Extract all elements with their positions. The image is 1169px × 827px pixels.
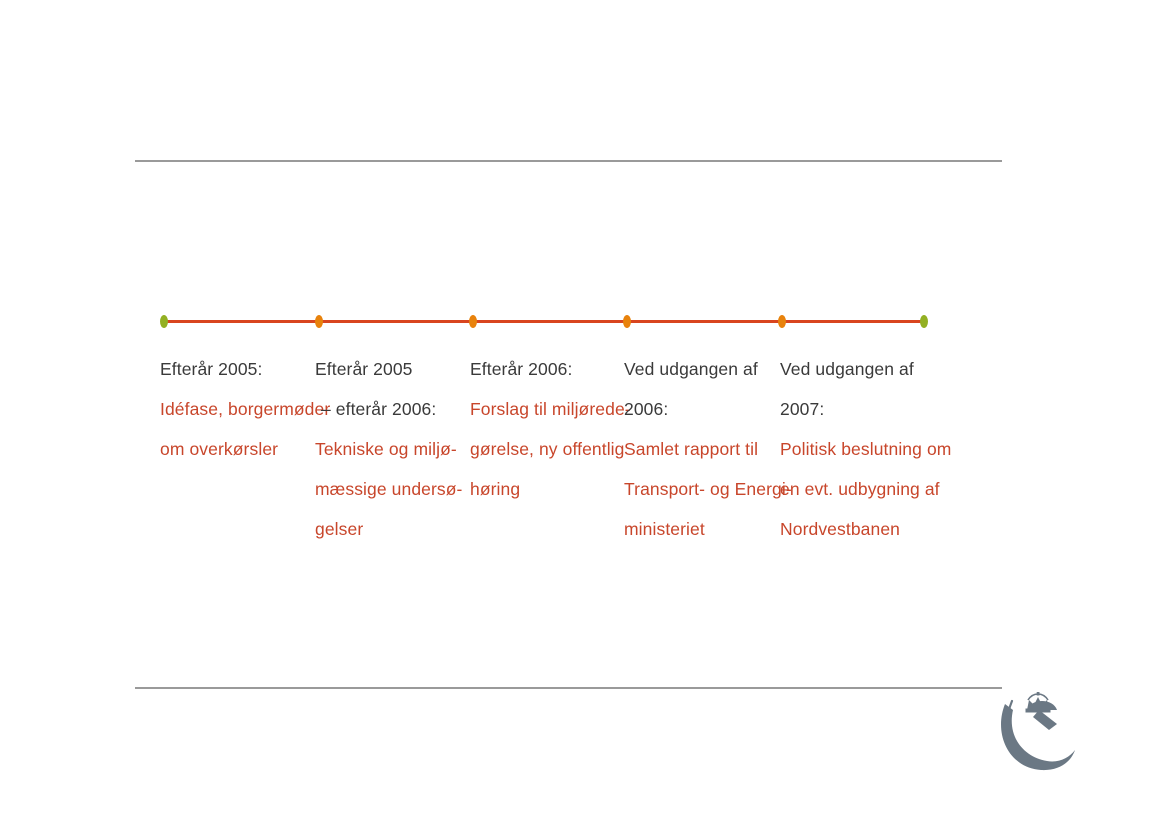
column-5-heading-line-1: Ved udgangen af <box>780 349 940 389</box>
column-3-body-line-2: gørelse, ny offentlig <box>470 429 620 469</box>
column-2-body-line-3: gelser <box>315 509 465 549</box>
column-1-heading-line-1: Efterår 2005: <box>160 349 310 389</box>
timeline-column-3: Efterår 2006: Forslag til miljørede- gør… <box>470 349 620 509</box>
column-2-heading-line-2: – efterår 2006: <box>315 389 465 429</box>
column-4-body-line-3: ministeriet <box>624 509 774 549</box>
post-horn-crown-logo <box>995 692 1081 776</box>
timeline-column-5: Ved udgangen af 2007: Politisk beslutnin… <box>780 349 940 549</box>
timeline-column-4: Ved udgangen af 2006: Samlet rapport til… <box>624 349 774 549</box>
column-2-body-line-1: Tekniske og miljø- <box>315 429 465 469</box>
timeline-marker-3 <box>469 315 477 328</box>
column-3-body-line-3: høring <box>470 469 620 509</box>
bottom-divider <box>135 687 1002 689</box>
column-3-body-line-1: Forslag til miljørede- <box>470 389 620 429</box>
column-5-heading-line-2: 2007: <box>780 389 940 429</box>
column-1-body-line-1: Idéfase, borgermøder <box>160 389 310 429</box>
column-5-body-line-3: Nordvestbanen <box>780 509 940 549</box>
timeline-columns: Efterår 2005: Idéfase, borgermøder om ov… <box>160 349 950 609</box>
slide-canvas: Efterår 2005: Idéfase, borgermøder om ov… <box>0 0 1169 827</box>
column-4-heading-line-1: Ved udgangen af <box>624 349 774 389</box>
column-3-heading-line-1: Efterår 2006: <box>470 349 620 389</box>
timeline-axis <box>164 320 924 323</box>
timeline-marker-5 <box>778 315 786 328</box>
column-5-body-line-2: en evt. udbygning af <box>780 469 940 509</box>
column-4-body-line-2: Transport- og Energi- <box>624 469 774 509</box>
column-4-heading-line-2: 2006: <box>624 389 774 429</box>
top-divider <box>135 160 1002 162</box>
timeline-column-1: Efterår 2005: Idéfase, borgermøder om ov… <box>160 349 310 469</box>
timeline <box>160 300 930 344</box>
column-2-heading-line-1: Efterår 2005 <box>315 349 465 389</box>
column-5-body-line-1: Politisk beslutning om <box>780 429 940 469</box>
column-2-body-line-2: mæssige undersø- <box>315 469 465 509</box>
column-1-body-line-2: om overkørsler <box>160 429 310 469</box>
column-4-body-line-1: Samlet rapport til <box>624 429 774 469</box>
timeline-column-2: Efterår 2005 – efterår 2006: Tekniske og… <box>315 349 465 549</box>
timeline-marker-4 <box>623 315 631 328</box>
timeline-marker-start <box>160 315 168 328</box>
timeline-marker-end <box>920 315 928 328</box>
timeline-marker-2 <box>315 315 323 328</box>
